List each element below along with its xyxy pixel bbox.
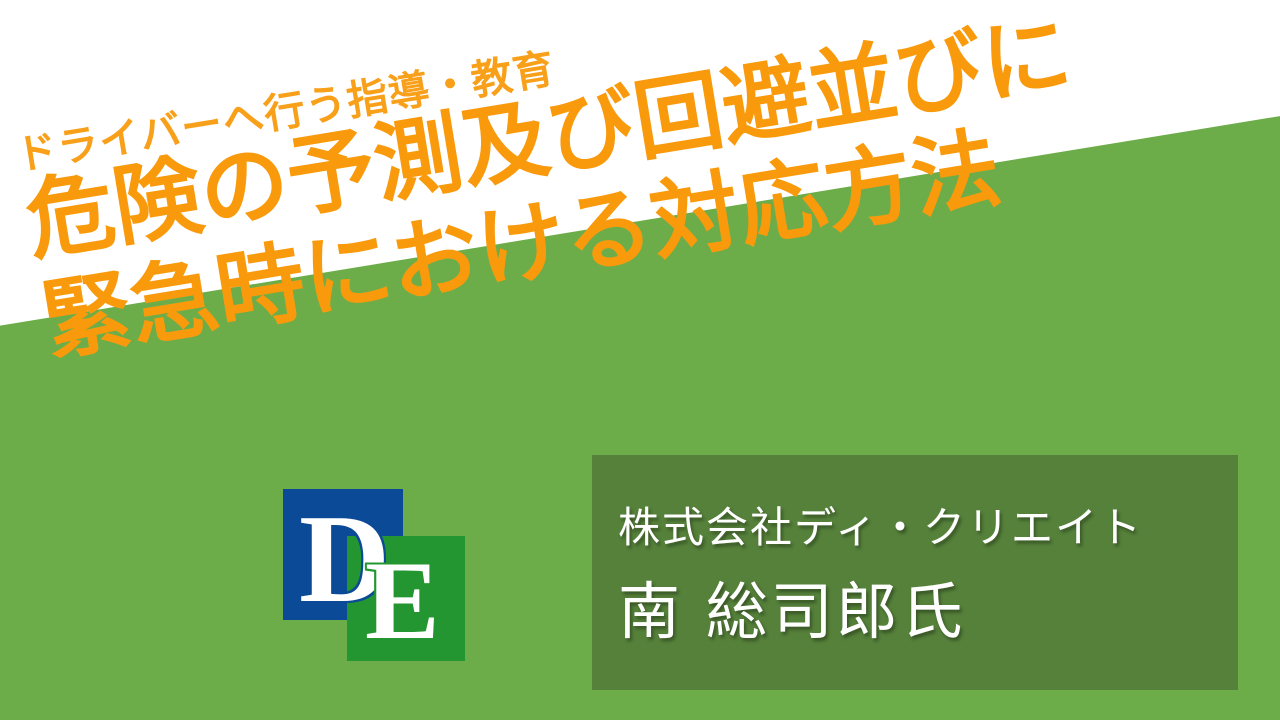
title-slide: ドライバーへ行う指導・教育 危険の予測及び回避並びに 緊急時における対応方法 D…: [0, 0, 1280, 720]
speaker-panel: 株式会社ディ・クリエイト 南 総司郎氏: [592, 455, 1238, 690]
speaker-name: 南 総司郎氏: [618, 561, 1238, 651]
logo-letter-e: E: [365, 545, 440, 657]
de-logo: D E: [283, 489, 465, 661]
speaker-company: 株式会社ディ・クリエイト: [618, 494, 1238, 555]
